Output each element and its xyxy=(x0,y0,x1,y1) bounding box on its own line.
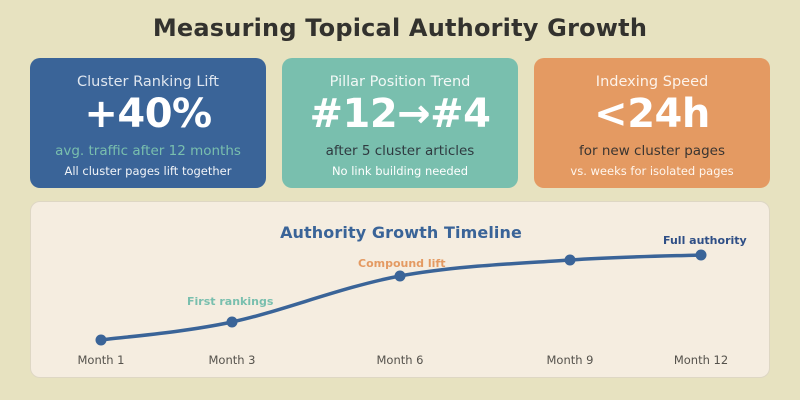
kpi-card-indexing-speed: Indexing Speed <24h for new cluster page… xyxy=(534,58,770,188)
chart-x-tick-label: Month 3 xyxy=(208,353,255,367)
chart-annotation: First rankings xyxy=(187,295,273,308)
page-title: Measuring Topical Authority Growth xyxy=(0,14,800,42)
chart-x-tick-label: Month 9 xyxy=(546,353,593,367)
kpi-card-subtitle: avg. traffic after 12 months xyxy=(55,143,241,159)
kpi-card-cluster-ranking-lift: Cluster Ranking Lift +40% avg. traffic a… xyxy=(30,58,266,188)
kpi-card-note: vs. weeks for isolated pages xyxy=(570,164,733,178)
chart-x-tick-label: Month 1 xyxy=(77,353,124,367)
chart-data-point[interactable] xyxy=(96,335,107,346)
authority-growth-chart-panel: Authority Growth Timeline First rankings… xyxy=(30,201,770,378)
chart-x-tick-label: Month 6 xyxy=(376,353,423,367)
kpi-card-note: All cluster pages lift together xyxy=(65,164,232,178)
chart-data-point[interactable] xyxy=(395,271,406,282)
chart-annotation: Full authority xyxy=(663,234,747,247)
kpi-card-label: Pillar Position Trend xyxy=(330,74,471,90)
kpi-card-value: #12→#4 xyxy=(309,91,490,137)
kpi-card-label: Indexing Speed xyxy=(596,74,708,90)
kpi-card-row: Cluster Ranking Lift +40% avg. traffic a… xyxy=(30,58,770,188)
kpi-card-pillar-position-trend: Pillar Position Trend #12→#4 after 5 clu… xyxy=(282,58,518,188)
chart-annotation: Compound lift xyxy=(358,257,445,270)
chart-data-point[interactable] xyxy=(696,250,707,261)
chart-data-point[interactable] xyxy=(227,317,238,328)
kpi-card-value: <24h xyxy=(594,91,710,137)
chart-x-tick-label: Month 12 xyxy=(674,353,728,367)
kpi-card-note: No link building needed xyxy=(332,164,468,178)
kpi-card-value: +40% xyxy=(84,91,211,137)
kpi-card-subtitle: for new cluster pages xyxy=(579,143,725,159)
kpi-card-label: Cluster Ranking Lift xyxy=(77,74,219,90)
chart-data-point[interactable] xyxy=(565,255,576,266)
kpi-card-subtitle: after 5 cluster articles xyxy=(326,143,475,159)
